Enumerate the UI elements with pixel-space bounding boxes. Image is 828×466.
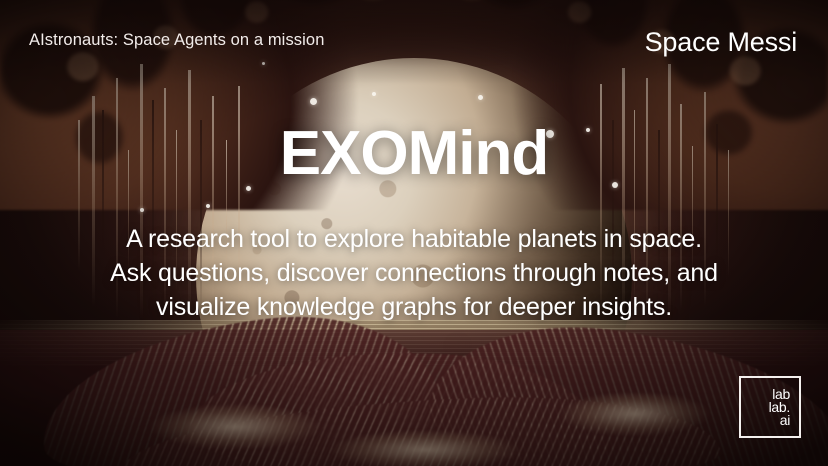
page-title: EXOMind [0,118,828,189]
header-left-label: AIstronauts: Space Agents on a mission [29,31,324,50]
logo-line-3: ai [780,414,790,427]
subtitle-line-3: visualize knowledge graphs for deeper in… [0,290,828,324]
subtitle-line-1: A research tool to explore habitable pla… [0,222,828,256]
presentation-slide: AIstronauts: Space Agents on a mission S… [0,0,828,466]
header-right-label: Space Messi [645,27,797,58]
subtitle-block: A research tool to explore habitable pla… [0,222,828,324]
subtitle-line-2: Ask questions, discover connections thro… [0,256,828,290]
lablab-ai-logo: lab lab. ai [739,376,801,438]
